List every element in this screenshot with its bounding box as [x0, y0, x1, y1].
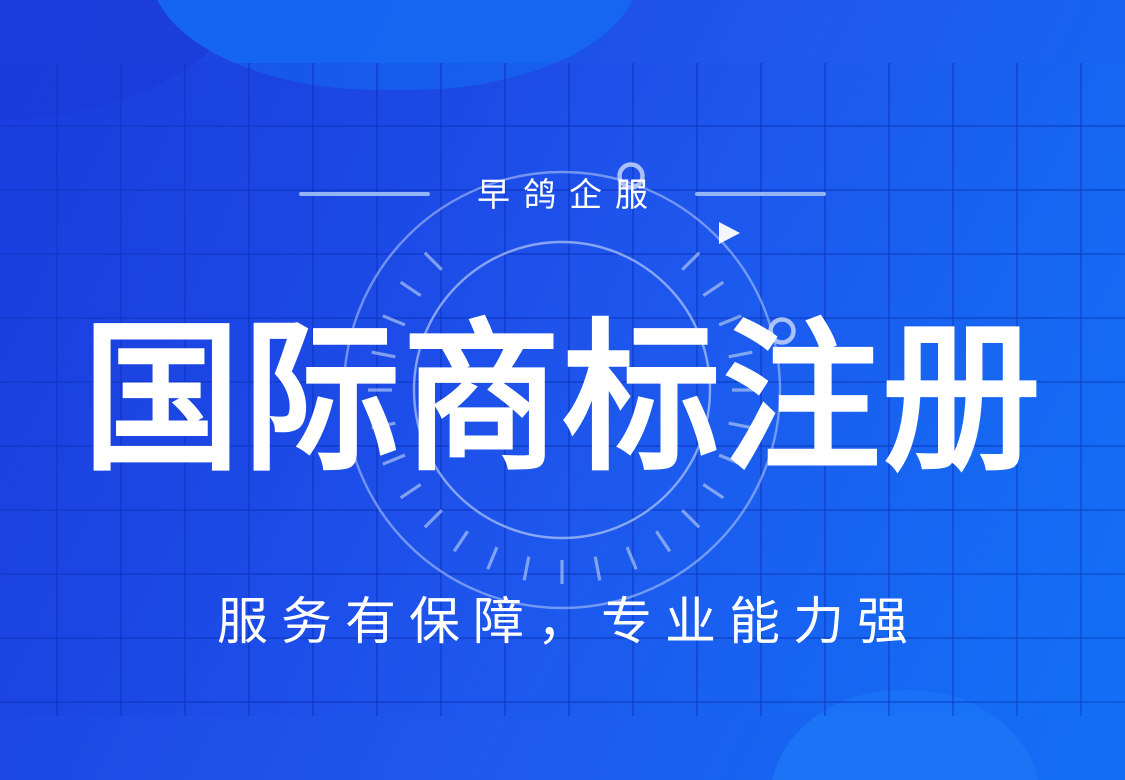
radial-tick — [454, 531, 467, 551]
brand-eyebrow-row: 早鸽企服 — [0, 172, 1125, 216]
radial-tick — [425, 510, 442, 527]
radial-tick — [524, 557, 529, 581]
brand-name: 早鸽企服 — [464, 178, 661, 211]
radial-tick — [682, 510, 699, 527]
radial-tick — [656, 531, 669, 551]
radial-tick — [627, 547, 636, 569]
radial-tick — [595, 557, 600, 581]
radial-tick — [488, 547, 497, 569]
play-triangle-marker — [719, 222, 740, 244]
radial-tick — [425, 253, 442, 270]
decorative-blob-bottom-right — [770, 690, 1040, 780]
decorative-blob-top-left — [0, 0, 260, 120]
divider-rule-left — [299, 192, 430, 196]
divider-rule-right — [695, 192, 826, 196]
promo-poster: 早鸽企服 国际商标注册 服务有保障，专业能力强 — [0, 0, 1125, 780]
poster-headline: 国际商标注册 — [0, 318, 1125, 481]
radial-tick — [703, 282, 723, 295]
decorative-blob-top-center — [150, 0, 640, 90]
radial-tick — [682, 253, 699, 270]
poster-tagline: 服务有保障，专业能力强 — [0, 596, 1125, 647]
radial-tick — [401, 282, 421, 295]
